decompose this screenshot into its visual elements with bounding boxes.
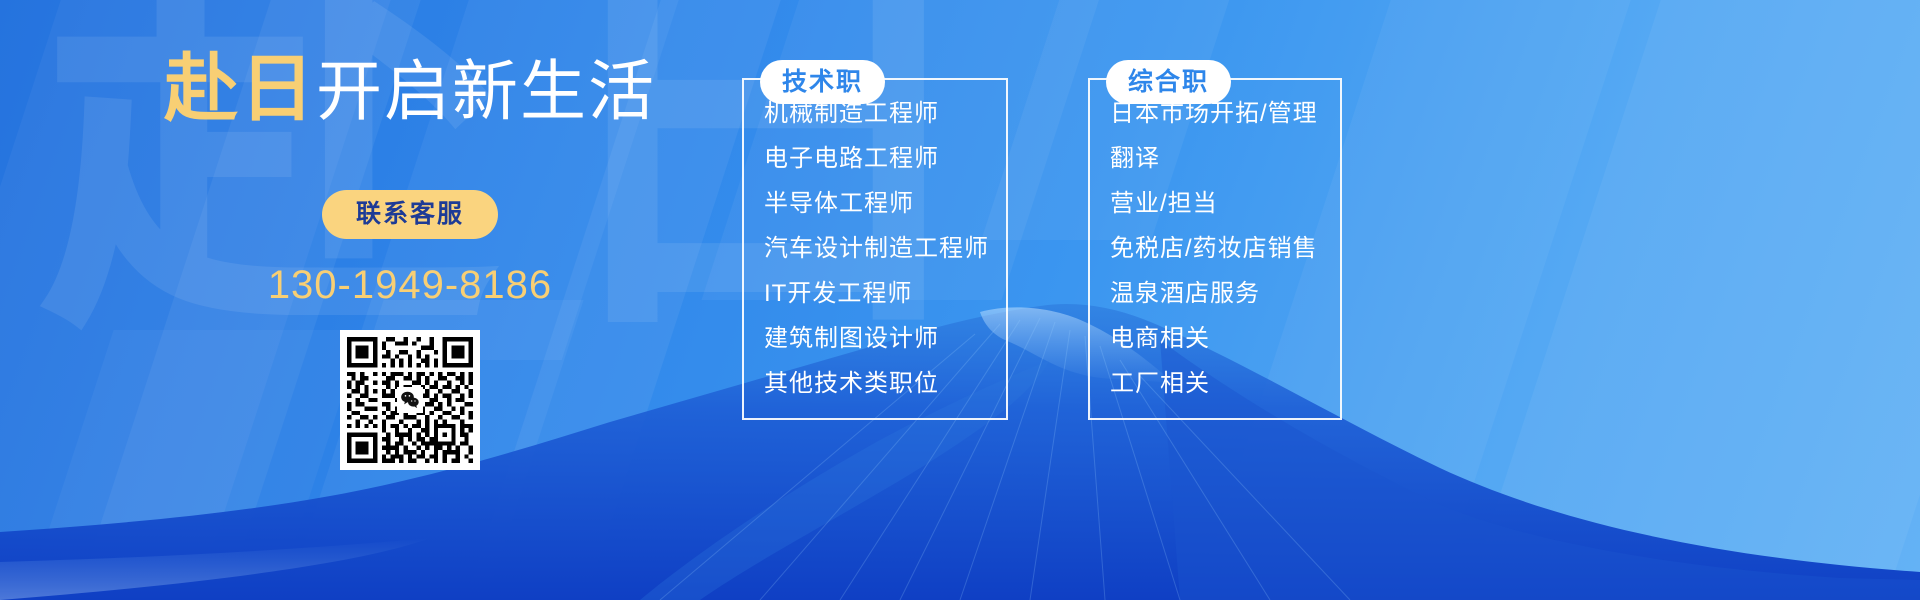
contact-support-button[interactable]: 联系客服	[322, 190, 498, 239]
hero-left-column: 赴日开启新生活 联系客服 130-1949-8186	[150, 30, 670, 560]
wechat-qr-code[interactable]	[340, 330, 480, 470]
list-item[interactable]: 机械制造工程师	[764, 102, 1008, 126]
list-item[interactable]: 其他技术类职位	[764, 372, 1008, 396]
list-item[interactable]: IT开发工程师	[764, 282, 1008, 306]
list-item[interactable]: 翻译	[1110, 147, 1342, 171]
headline-white-text: 开启新生活	[316, 54, 656, 128]
headline-gold-text: 赴日	[164, 47, 316, 130]
list-item[interactable]: 半导体工程师	[764, 192, 1008, 216]
list-item[interactable]: 建筑制图设计师	[764, 327, 1008, 351]
job-panel-tech: 技术职 机械制造工程师 电子电路工程师 半导体工程师 汽车设计制造工程师 IT开…	[742, 60, 1008, 422]
job-panel-general: 综合职 日本市场开拓/管理 翻译 营业/担当 免税店/药妆店销售 温泉酒店服务 …	[1088, 60, 1342, 422]
list-item[interactable]: 工厂相关	[1110, 372, 1342, 396]
list-item[interactable]: 电子电路工程师	[764, 147, 1008, 171]
list-item[interactable]: 汽车设计制造工程师	[764, 237, 1008, 261]
page-title: 赴日开启新生活	[164, 52, 656, 126]
list-item[interactable]: 日本市场开拓/管理	[1110, 102, 1342, 126]
banner-stage: 赴日	[0, 0, 1920, 600]
wechat-icon	[397, 387, 423, 413]
job-list-general: 日本市场开拓/管理 翻译 营业/担当 免税店/药妆店销售 温泉酒店服务 电商相关…	[1088, 60, 1342, 422]
panel-badge-tech[interactable]: 技术职	[760, 60, 885, 104]
phone-number[interactable]: 130-1949-8186	[268, 263, 552, 308]
list-item[interactable]: 温泉酒店服务	[1110, 282, 1342, 306]
list-item[interactable]: 免税店/药妆店销售	[1110, 237, 1342, 261]
list-item[interactable]: 电商相关	[1110, 327, 1342, 351]
decor-band	[1440, 0, 1920, 600]
panel-badge-general[interactable]: 综合职	[1106, 60, 1231, 104]
job-list-tech: 机械制造工程师 电子电路工程师 半导体工程师 汽车设计制造工程师 IT开发工程师…	[742, 60, 1008, 422]
list-item[interactable]: 营业/担当	[1110, 192, 1342, 216]
